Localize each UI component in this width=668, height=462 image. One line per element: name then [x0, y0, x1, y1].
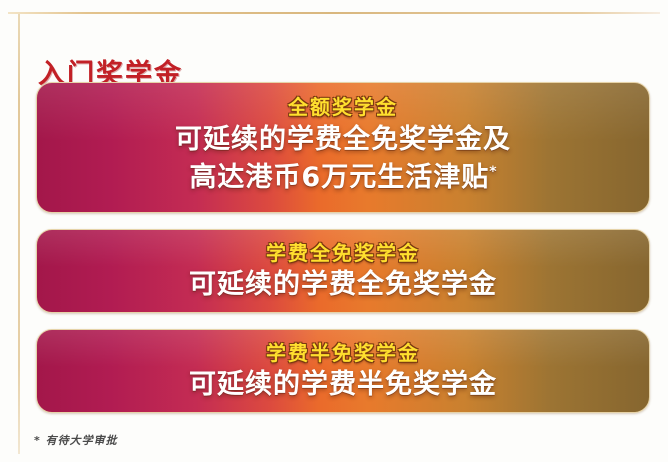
footnote-marker: * [489, 164, 496, 180]
banner-heading: 全额奖学金 [51, 95, 635, 120]
banner-heading: 学费半免奖学金 [51, 341, 635, 366]
page-footnote: * 有待大学审批 [34, 432, 118, 448]
banner-description-line-2-text: 高达港币6万元生活津贴 [189, 162, 489, 193]
banner-description-line-1: 可延续的学费全免奖学金及 [51, 122, 635, 158]
scholarship-banner-full-tuition: 学费全免奖学金 可延续的学费全免奖学金 [36, 229, 650, 313]
scholarship-banner-list: 全额奖学金 可延续的学费全免奖学金及 高达港币6万元生活津贴* 学费全免奖学金 … [36, 82, 650, 413]
banner-description-line-2: 高达港币6万元生活津贴* [51, 160, 635, 196]
top-divider-rule [8, 12, 660, 14]
banner-description-line-1: 可延续的学费半免奖学金 [51, 367, 635, 403]
left-divider-rule [18, 14, 20, 454]
scholarship-banner-half-tuition: 学费半免奖学金 可延续的学费半免奖学金 [36, 329, 650, 413]
banner-description-line-1: 可延续的学费全免奖学金 [51, 267, 635, 303]
scholarship-banner-full-scholarship: 全额奖学金 可延续的学费全免奖学金及 高达港币6万元生活津贴* [36, 82, 650, 213]
banner-heading: 学费全免奖学金 [51, 241, 635, 266]
